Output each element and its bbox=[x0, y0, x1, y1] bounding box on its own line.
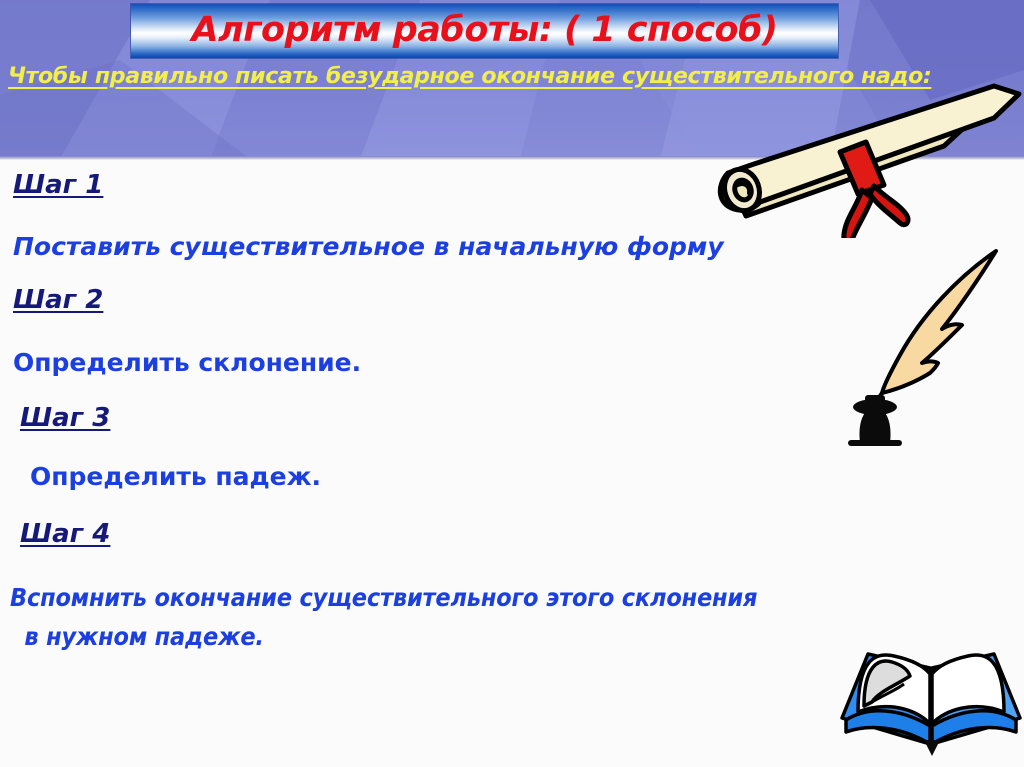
open-book-icon bbox=[838, 640, 1024, 762]
step-4-body-line-1: Вспомнить окончание существительного это… bbox=[10, 583, 757, 612]
step-4-label: Шаг 4 bbox=[20, 519, 110, 549]
step-4-body: Вспомнить окончание существительного это… bbox=[10, 578, 919, 656]
step-3-body: Определить падеж. bbox=[30, 462, 321, 491]
quill-pen-inkwell-icon bbox=[838, 243, 1024, 448]
step-3-label: Шаг 3 bbox=[20, 403, 110, 433]
step-2-label: Шаг 2 bbox=[13, 285, 103, 315]
step-2-body: Определить склонение. bbox=[13, 348, 361, 377]
page-title: Алгоритм работы: ( 1 способ) bbox=[131, 4, 838, 58]
scroll-diploma-icon bbox=[694, 78, 1024, 238]
step-1-label: Шаг 1 bbox=[13, 170, 103, 200]
title-banner: Алгоритм работы: ( 1 способ) bbox=[131, 4, 838, 58]
step-4-body-line-2: в нужном падеже. bbox=[10, 617, 919, 656]
slide-canvas: Алгоритм работы: ( 1 способ) Чтобы прави… bbox=[0, 0, 1024, 767]
step-1-body: Поставить существительное в начальную фо… bbox=[13, 232, 724, 261]
